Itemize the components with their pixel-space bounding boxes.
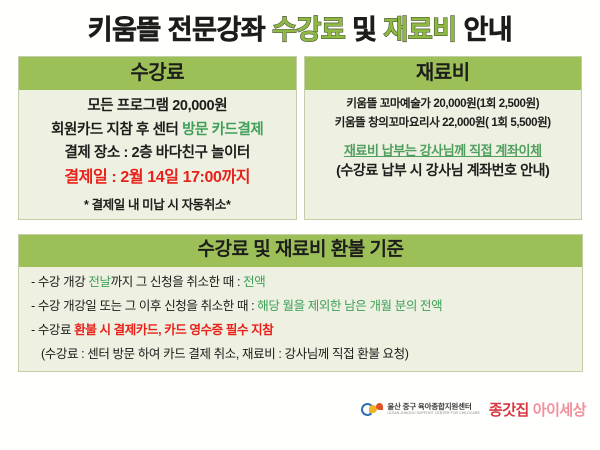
refund-section: 수강료 및 재료비 환불 기준 - 수강 개강 전날까지 그 신청을 취소한 때…	[0, 220, 600, 372]
fee-line2-highlight: 방문 카드결제	[182, 122, 263, 138]
brand-logo-part2: 아이세상	[533, 399, 586, 420]
refund-row2-green1: 해당 월을 제외한 남은 개월 분의 전액	[257, 299, 442, 313]
footer-logos: 울산 중구 육아종합지원센터 ULSAN JUNGGU SUPPORT CENT…	[0, 372, 600, 450]
refund-rule-row-3: - 수강료 환불 시 결제카드, 카드 영수증 필수 지참	[31, 324, 273, 337]
top-panels-row: 수강료 모든 프로그램 20,000원 회원카드 지참 후 센터 방문 카드결제…	[0, 56, 600, 220]
refund-row1-green2: 전액	[243, 275, 265, 289]
center-logo-english: ULSAN JUNGGU SUPPORT CENTER FOR CHILDCAR…	[387, 412, 480, 416]
fee-line-program: 모든 프로그램 20,000원	[25, 99, 290, 114]
refund-row3-red: 환불 시 결제카드, 카드 영수증 필수 지참	[74, 323, 273, 337]
material-line-cooking-class: 키움뜰 창의꼬마요리사 22,000원( 1회 5,500원)	[311, 118, 576, 130]
center-logo-korean: 울산 중구 육아종합지원센터	[387, 403, 480, 411]
fee-line-auto-cancel-note: * 결제일 내 미납 시 자동취소*	[25, 199, 290, 212]
fee-line-deadline: 결제일 : 2월 14일 17:00까지	[25, 170, 290, 186]
title-segment-2: 수강료	[272, 17, 345, 44]
refund-rule-row-2: - 수강 개강일 또는 그 이후 신청을 취소한 때 : 해당 월을 제외한 남…	[31, 300, 442, 313]
refund-row1-green1: 전날	[88, 275, 110, 289]
material-line-account-info: (수강료 납부 시 강사님 계좌번호 안내)	[311, 163, 576, 177]
tuition-fee-header: 수강료	[19, 57, 296, 90]
material-fee-body: 키움뜰 꼬마예술가 20,000원(1회 2,500원) 키움뜰 창의꼬마요리사…	[305, 90, 582, 219]
tuition-fee-panel: 수강료 모든 프로그램 20,000원 회원카드 지참 후 센터 방문 카드결제…	[18, 56, 297, 220]
refund-rule-row-1: - 수강 개강 전날까지 그 신청을 취소한 때 : 전액	[31, 276, 265, 289]
childcare-center-logo: 울산 중구 육아종합지원센터 ULSAN JUNGGU SUPPORT CENT…	[361, 402, 480, 417]
refund-panel: 수강료 및 재료비 환불 기준 - 수강 개강 전날까지 그 신청을 취소한 때…	[18, 234, 583, 372]
tuition-fee-body: 모든 프로그램 20,000원 회원카드 지참 후 센터 방문 카드결제 결제 …	[19, 90, 296, 219]
refund-row2-pre: - 수강 개강일 또는 그 이후 신청을 취소한 때 :	[31, 299, 257, 313]
title-segment-3: 및	[352, 17, 376, 44]
page-title: 키움뜰 전문강좌 수강료 및 재료비 안내	[0, 0, 600, 56]
fee-line-location: 결제 장소 : 2층 바다친구 놀이터	[25, 146, 290, 161]
fee-line-payment-method: 회원카드 지참 후 센터 방문 카드결제	[25, 123, 290, 138]
title-segment-5: 안내	[464, 17, 513, 44]
fee-line2-plain: 회원카드 지참 후 센터	[51, 122, 182, 138]
refund-header: 수강료 및 재료비 환불 기준	[19, 235, 582, 267]
material-fee-panel: 재료비 키움뜰 꼬마예술가 20,000원(1회 2,500원) 키움뜰 창의꼬…	[304, 56, 583, 220]
refund-rule-row-4: (수강료 : 센터 방문 하여 카드 결제 취소, 재료비 : 강사님께 직접 …	[31, 348, 409, 361]
center-logo-icon	[361, 402, 383, 417]
flyer-page: 키움뜰 전문강좌 수강료 및 재료비 안내 수강료 모든 프로그램 20,000…	[0, 0, 600, 450]
refund-row1-mid: 까지 그 신청을 취소한 때 :	[111, 275, 244, 289]
refund-row1-pre: - 수강 개강	[31, 275, 88, 289]
refund-body: - 수강 개강 전날까지 그 신청을 취소한 때 : 전액 - 수강 개강일 또…	[19, 267, 582, 372]
title-segment-1: 키움뜰 전문강좌	[88, 17, 265, 44]
brand-logo: 종갓집 아이세상	[489, 399, 586, 420]
refund-row3-pre: - 수강료	[31, 323, 74, 337]
title-segment-4: 재료비	[384, 17, 457, 44]
material-line-transfer-notice: 재료비 납부는 강사님께 직접 계좌이체	[311, 144, 576, 157]
center-logo-text: 울산 중구 육아종합지원센터 ULSAN JUNGGU SUPPORT CENT…	[387, 403, 480, 416]
material-line-art-class: 키움뜰 꼬마예술가 20,000원(1회 2,500원)	[311, 99, 576, 111]
material-fee-header: 재료비	[305, 57, 582, 90]
brand-logo-part1: 종갓집	[489, 399, 529, 420]
